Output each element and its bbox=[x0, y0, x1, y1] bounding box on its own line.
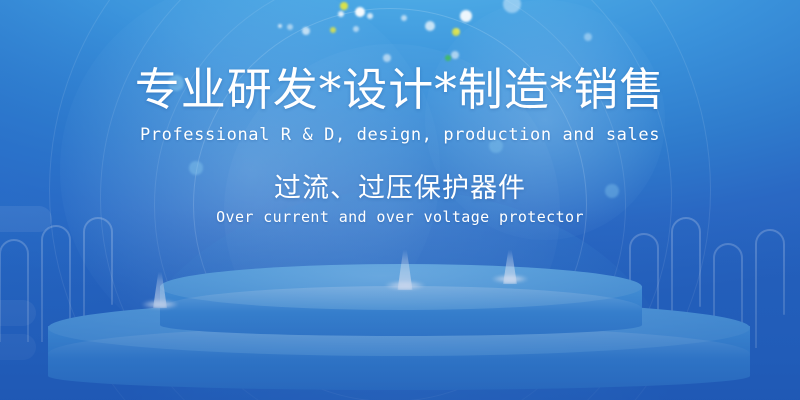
headline-chinese: 专业研发*设计*制造*销售 bbox=[0, 62, 800, 118]
banner-text-block: 专业研发*设计*制造*销售 Professional R & D, design… bbox=[0, 62, 800, 228]
headline-english: Professional R & D, design, production a… bbox=[0, 122, 800, 148]
subheadline-chinese: 过流、过压保护器件 bbox=[0, 172, 800, 206]
subheadline-english: Over current and over voltage protector bbox=[0, 206, 800, 228]
promo-banner: 专业研发*设计*制造*销售 Professional R & D, design… bbox=[0, 0, 800, 400]
